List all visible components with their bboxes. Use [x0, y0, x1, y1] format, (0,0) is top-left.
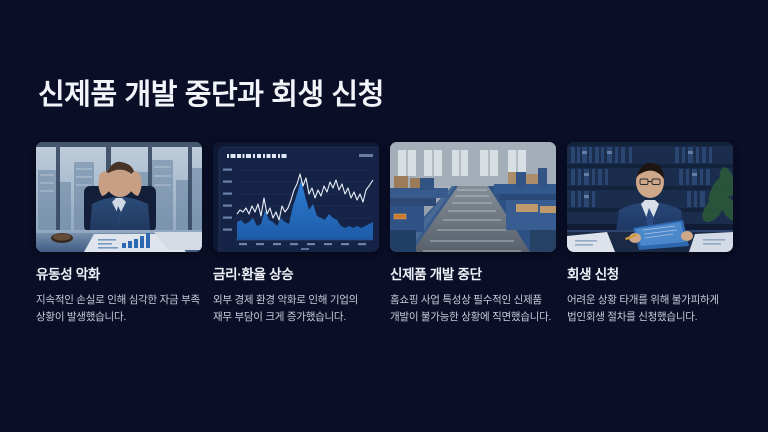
card-description: 어려운 상황 타개를 위해 불가피하게 법인회생 절차를 신청했습니다.: [567, 292, 733, 326]
presentation-slide: 신제품 개발 중단과 회생 신청: [0, 0, 768, 432]
page-title: 신제품 개발 중단과 회생 신청: [38, 78, 384, 113]
list-item[interactable]: 신제품 개발 중단 홈쇼핑 사업 특성상 필수적인 신제품 개발이 불가능한 상…: [390, 142, 556, 326]
card-description: 홈쇼핑 사업 특성상 필수적인 신제품 개발이 불가능한 상황에 직면했습니다.: [390, 292, 556, 326]
executive-reviewing-documents-photo: [567, 142, 733, 252]
list-item[interactable]: 유동성 악화 지속적인 손실로 인해 심각한 자금 부족 상황이 발생했습니다.: [36, 142, 202, 326]
list-item[interactable]: 금리·환율 상승 외부 경제 환경 악화로 인해 기업의 재무 부담이 크게 증…: [213, 142, 379, 326]
card-title: 유동성 악화: [36, 266, 202, 284]
card-description: 외부 경제 환경 악화로 인해 기업의 재무 부담이 크게 증가했습니다.: [213, 292, 379, 326]
card-description: 지속적인 손실로 인해 심각한 자금 부족 상황이 발생했습니다.: [36, 292, 202, 326]
interest-rate-chart-photo: [213, 142, 379, 252]
distressed-businessman-photo: [36, 142, 202, 252]
card-title: 회생 신청: [567, 266, 733, 284]
idle-factory-conveyor-photo: [390, 142, 556, 252]
list-item[interactable]: 회생 신청 어려운 상황 타개를 위해 불가피하게 법인회생 절차를 신청했습니…: [567, 142, 733, 326]
card-title: 금리·환율 상승: [213, 266, 379, 284]
card-list: 유동성 악화 지속적인 손실로 인해 심각한 자금 부족 상황이 발생했습니다.: [36, 142, 732, 326]
card-title: 신제품 개발 중단: [390, 266, 556, 284]
